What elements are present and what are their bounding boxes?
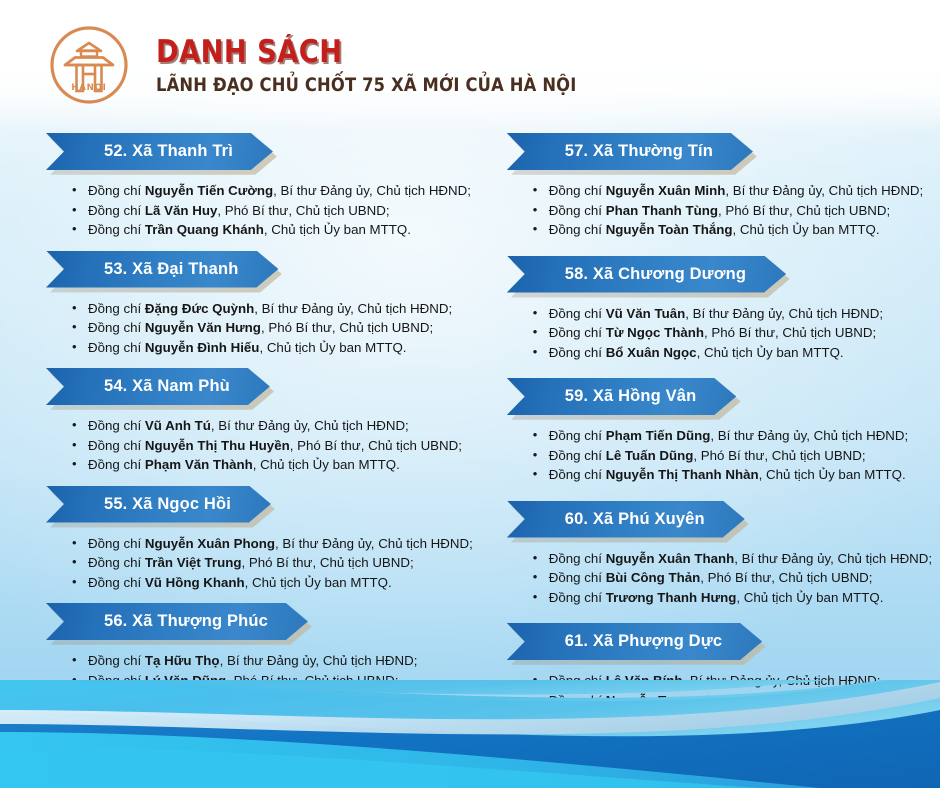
commune-banner[interactable]: 55. Xã Ngọc Hồi xyxy=(46,486,271,523)
official-prefix: Đồng chí xyxy=(88,438,145,453)
commune-section: 57. Xã Thường TínĐồng chí Nguyễn Xuân Mi… xyxy=(507,133,940,240)
official-role: , Phó Bí thư, Chủ tịch UBND; xyxy=(261,320,433,335)
official-role: , Bí thư Đảng ủy, Chủ tịch HĐND; xyxy=(734,551,932,566)
commune-section: 60. Xã Phú XuyênĐồng chí Nguyễn Xuân Tha… xyxy=(507,501,940,608)
commune-banner-label: 59. Xã Hồng Vân xyxy=(565,378,697,415)
svg-text:HANOI: HANOI xyxy=(71,83,106,93)
official-name: Phạm Tiến Dũng xyxy=(606,428,711,443)
official-role: , Bí thư Đảng ủy, Chủ tịch HĐND; xyxy=(254,301,452,316)
official-prefix: Đồng chí xyxy=(88,203,145,218)
commune-banner-wrap: 59. Xã Hồng Vân xyxy=(507,378,940,415)
official-prefix: Đồng chí xyxy=(88,222,145,237)
list-item: Đồng chí Nguyễn Xuân Thanh, Bí thư Đảng … xyxy=(533,549,940,569)
commune-banner[interactable]: 52. Xã Thanh Trì xyxy=(46,133,273,170)
list-item: Đồng chí Nguyễn Đình Hiếu, Chủ tịch Ủy b… xyxy=(72,338,473,358)
list-item: Đồng chí Phạm Văn Thành, Chủ tịch Ủy ban… xyxy=(72,455,473,475)
official-name: Nguyễn Tiến Cường xyxy=(145,183,273,198)
commune-banner-label: 57. Xã Thường Tín xyxy=(565,133,713,170)
commune-banner[interactable]: 58. Xã Chương Dương xyxy=(507,256,786,293)
commune-banner-label: 55. Xã Ngọc Hồi xyxy=(104,486,231,523)
official-role: , Chủ tịch Ủy ban MTTQ. xyxy=(759,467,906,482)
official-name: Nguyễn Đình Hiếu xyxy=(145,340,260,355)
list-item: Đồng chí Trần Việt Trung, Phó Bí thư, Ch… xyxy=(72,553,473,573)
official-prefix: Đồng chí xyxy=(88,653,145,668)
official-role: , Phó Bí thư, Chủ tịch UBND; xyxy=(693,448,865,463)
commune-banner-label: 60. Xã Phú Xuyên xyxy=(565,501,705,538)
page-subtitle: LÃNH ĐẠO CHỦ CHỐT 75 XÃ MỚI CỦA HÀ NỘI xyxy=(156,75,576,96)
commune-banner-wrap: 61. Xã Phượng Dực xyxy=(507,623,940,660)
left-column: 52. Xã Thanh TrìĐồng chí Nguyễn Tiến Cườ… xyxy=(0,133,481,693)
commune-banner-wrap: 54. Xã Nam Phù xyxy=(46,368,473,405)
list-item: Đồng chí Trương Thanh Hưng, Chủ tịch Ủy … xyxy=(533,588,940,608)
official-role: , Phó Bí thư, Chủ tịch UBND; xyxy=(718,203,890,218)
list-item: Đồng chí Vũ Hồng Khanh, Chủ tịch Ủy ban … xyxy=(72,573,473,593)
official-name: Nguyễn Văn Hưng xyxy=(145,320,261,335)
list-item: Đồng chí Nguyễn Thị Thanh Nhàn, Chủ tịch… xyxy=(533,465,940,485)
official-prefix: Đồng chí xyxy=(549,570,606,585)
official-prefix: Đồng chí xyxy=(549,306,606,321)
list-item: Đồng chí Phạm Tiến Dũng, Bí thư Đảng ủy,… xyxy=(533,426,940,446)
commune-banner-label: 53. Xã Đại Thanh xyxy=(104,251,238,288)
commune-banner-label: 52. Xã Thanh Trì xyxy=(104,133,233,170)
list-item: Đồng chí Trần Quang Khánh, Chủ tịch Ủy b… xyxy=(72,220,473,240)
official-role: , Phó Bí thư, Chủ tịch UBND; xyxy=(217,203,389,218)
list-item: Đồng chí Lê Tuấn Dũng, Phó Bí thư, Chủ t… xyxy=(533,446,940,466)
commune-banner-wrap: 55. Xã Ngọc Hồi xyxy=(46,486,473,523)
official-name: Nguyễn Xuân Thanh xyxy=(606,551,735,566)
official-role: , Phó Bí thư, Chủ tịch UBND; xyxy=(704,325,876,340)
commune-banner[interactable]: 61. Xã Phượng Dực xyxy=(507,623,762,660)
commune-banner-wrap: 53. Xã Đại Thanh xyxy=(46,251,473,288)
official-list: Đồng chí Phạm Tiến Dũng, Bí thư Đảng ủy,… xyxy=(507,426,940,485)
official-prefix: Đồng chí xyxy=(549,345,606,360)
official-role: , Chủ tịch Ủy ban MTTQ. xyxy=(733,222,880,237)
official-prefix: Đồng chí xyxy=(549,428,606,443)
commune-banner[interactable]: 53. Xã Đại Thanh xyxy=(46,251,278,288)
official-role: , Bí thư Đảng ủy, Chủ tịch HĐND; xyxy=(273,183,471,198)
commune-section: 54. Xã Nam PhùĐồng chí Vũ Anh Tú, Bí thư… xyxy=(46,368,473,475)
official-prefix: Đồng chí xyxy=(549,448,606,463)
commune-banner[interactable]: 59. Xã Hồng Vân xyxy=(507,378,737,415)
commune-section: 53. Xã Đại ThanhĐồng chí Đặng Đức Quỳnh,… xyxy=(46,251,473,358)
list-item: Đồng chí Nguyễn Tiến Cường, Bí thư Đảng … xyxy=(72,181,473,201)
official-name: Trương Thanh Hưng xyxy=(606,590,737,605)
official-prefix: Đồng chí xyxy=(549,222,606,237)
official-role: , Bí thư Đảng ủy, Chủ tịch HĐND; xyxy=(220,653,418,668)
commune-banner-wrap: 56. Xã Thượng Phúc xyxy=(46,603,473,640)
infographic-poster: HANOI DANH SÁCH LÃNH ĐẠO CHỦ CHỐT 75 XÃ … xyxy=(0,0,940,788)
commune-banner-label: 56. Xã Thượng Phúc xyxy=(104,603,268,640)
official-list: Đồng chí Vũ Văn Tuân, Bí thư Đảng ủy, Ch… xyxy=(507,304,940,363)
commune-banner-label: 61. Xã Phượng Dực xyxy=(565,623,722,660)
list-item: Đồng chí Từ Ngọc Thành, Phó Bí thư, Chủ … xyxy=(533,323,940,343)
official-role: , Bí thư Đảng ủy, Chủ tịch HĐND; xyxy=(710,428,908,443)
list-item: Đồng chí Lã Văn Huy, Phó Bí thư, Chủ tịc… xyxy=(72,201,473,221)
official-role: , Phó Bí thư, Chủ tịch UBND; xyxy=(241,555,413,570)
official-name: Bổ Xuân Ngọc xyxy=(606,345,697,360)
commune-section: 58. Xã Chương DươngĐồng chí Vũ Văn Tuân,… xyxy=(507,256,940,363)
list-item: Đồng chí Phan Thanh Tùng, Phó Bí thư, Ch… xyxy=(533,201,940,221)
official-name: Từ Ngọc Thành xyxy=(606,325,704,340)
official-name: Phạm Văn Thành xyxy=(145,457,253,472)
commune-banner-wrap: 57. Xã Thường Tín xyxy=(507,133,940,170)
commune-section: 59. Xã Hồng VânĐồng chí Phạm Tiến Dũng, … xyxy=(507,378,940,485)
commune-banner-wrap: 58. Xã Chương Dương xyxy=(507,256,940,293)
official-list: Đồng chí Nguyễn Tiến Cường, Bí thư Đảng … xyxy=(46,181,473,240)
official-prefix: Đồng chí xyxy=(549,203,606,218)
commune-banner[interactable]: 57. Xã Thường Tín xyxy=(507,133,753,170)
list-item: Đồng chí Nguyễn Văn Hưng, Phó Bí thư, Ch… xyxy=(72,318,473,338)
list-item: Đồng chí Bổ Xuân Ngọc, Chủ tịch Ủy ban M… xyxy=(533,343,940,363)
official-name: Vũ Văn Tuân xyxy=(606,306,686,321)
official-role: , Chủ tịch Ủy ban MTTQ. xyxy=(245,575,392,590)
official-prefix: Đồng chí xyxy=(88,575,145,590)
official-prefix: Đồng chí xyxy=(88,340,145,355)
official-prefix: Đồng chí xyxy=(549,183,606,198)
official-role: , Bí thư Đảng ủy, Chủ tịch HĐND; xyxy=(725,183,923,198)
list-item: Đồng chí Nguyễn Xuân Phong, Bí thư Đảng … xyxy=(72,534,473,554)
list-item: Đồng chí Nguyễn Xuân Minh, Bí thư Đảng ủ… xyxy=(533,181,940,201)
commune-banner[interactable]: 60. Xã Phú Xuyên xyxy=(507,501,745,538)
official-name: Trần Quang Khánh xyxy=(145,222,264,237)
right-column: 57. Xã Thường TínĐồng chí Nguyễn Xuân Mi… xyxy=(481,133,940,693)
official-name: Bùi Công Thản xyxy=(606,570,701,585)
official-list: Đồng chí Nguyễn Xuân Thanh, Bí thư Đảng … xyxy=(507,549,940,608)
official-role: , Bí thư Đảng ủy, Chủ tịch HĐND; xyxy=(211,418,409,433)
official-name: Lê Tuấn Dũng xyxy=(606,448,694,463)
official-name: Phan Thanh Tùng xyxy=(606,203,718,218)
commune-banner-label: 58. Xã Chương Dương xyxy=(565,256,746,293)
official-list: Đồng chí Nguyễn Xuân Minh, Bí thư Đảng ủ… xyxy=(507,181,940,240)
title-block: DANH SÁCH LÃNH ĐẠO CHỦ CHỐT 75 XÃ MỚI CỦ… xyxy=(156,32,645,96)
official-role: , Chủ tịch Ủy ban MTTQ. xyxy=(736,590,883,605)
list-item: Đồng chí Nguyễn Thị Thu Huyền, Phó Bí th… xyxy=(72,436,473,456)
commune-banner[interactable]: 56. Xã Thượng Phúc xyxy=(46,603,308,640)
official-prefix: Đồng chí xyxy=(88,536,145,551)
commune-banner-label: 54. Xã Nam Phù xyxy=(104,368,230,405)
official-prefix: Đồng chí xyxy=(88,320,145,335)
list-item: Đồng chí Nguyễn Toàn Thắng, Chủ tịch Ủy … xyxy=(533,220,940,240)
commune-section: 52. Xã Thanh TrìĐồng chí Nguyễn Tiến Cườ… xyxy=(46,133,473,240)
hanoi-emblem-logo: HANOI xyxy=(48,24,130,106)
official-prefix: Đồng chí xyxy=(88,301,145,316)
official-prefix: Đồng chí xyxy=(549,551,606,566)
official-name: Đặng Đức Quỳnh xyxy=(145,301,254,316)
official-name: Nguyễn Toàn Thắng xyxy=(606,222,733,237)
official-name: Nguyễn Thị Thanh Nhàn xyxy=(606,467,759,482)
list-item: Đồng chí Vũ Anh Tú, Bí thư Đảng ủy, Chủ … xyxy=(72,416,473,436)
official-prefix: Đồng chí xyxy=(88,457,145,472)
commune-section: 55. Xã Ngọc HồiĐồng chí Nguyễn Xuân Phon… xyxy=(46,486,473,593)
official-role: , Chủ tịch Ủy ban MTTQ. xyxy=(697,345,844,360)
official-prefix: Đồng chí xyxy=(549,467,606,482)
official-role: , Chủ tịch Ủy ban MTTQ. xyxy=(259,340,406,355)
official-prefix: Đồng chí xyxy=(88,183,145,198)
official-name: Trần Việt Trung xyxy=(145,555,242,570)
official-list: Đồng chí Vũ Anh Tú, Bí thư Đảng ủy, Chủ … xyxy=(46,416,473,475)
official-list: Đồng chí Đặng Đức Quỳnh, Bí thư Đảng ủy,… xyxy=(46,299,473,358)
commune-banner-wrap: 60. Xã Phú Xuyên xyxy=(507,501,940,538)
official-role: , Chủ tịch Ủy ban MTTQ. xyxy=(264,222,411,237)
official-role: , Bí thư Đảng ủy, Chủ tịch HĐND; xyxy=(685,306,883,321)
list-item: Đồng chí Tạ Hữu Thọ, Bí thư Đảng ủy, Chủ… xyxy=(72,651,473,671)
official-prefix: Đồng chí xyxy=(88,555,145,570)
official-name: Vũ Hồng Khanh xyxy=(145,575,245,590)
official-name: Nguyễn Xuân Phong xyxy=(145,536,275,551)
official-name: Lã Văn Huy xyxy=(145,203,217,218)
official-prefix: Đồng chí xyxy=(88,418,145,433)
official-role: , Chủ tịch Ủy ban MTTQ. xyxy=(253,457,400,472)
poster-header: HANOI DANH SÁCH LÃNH ĐẠO CHỦ CHỐT 75 XÃ … xyxy=(0,0,940,128)
official-role: , Phó Bí thư, Chủ tịch UBND; xyxy=(700,570,872,585)
official-prefix: Đồng chí xyxy=(549,325,606,340)
official-list: Đồng chí Nguyễn Xuân Phong, Bí thư Đảng … xyxy=(46,534,473,593)
page-title: DANH SÁCH xyxy=(156,36,586,69)
list-item: Đồng chí Bùi Công Thản, Phó Bí thư, Chủ … xyxy=(533,568,940,588)
official-name: Nguyễn Xuân Minh xyxy=(606,183,726,198)
commune-banner-wrap: 52. Xã Thanh Trì xyxy=(46,133,473,170)
commune-banner[interactable]: 54. Xã Nam Phù xyxy=(46,368,270,405)
official-name: Nguyễn Thị Thu Huyền xyxy=(145,438,290,453)
sections-container: 52. Xã Thanh TrìĐồng chí Nguyễn Tiến Cườ… xyxy=(0,133,940,693)
official-prefix: Đồng chí xyxy=(549,590,606,605)
bottom-wave-decoration xyxy=(0,680,940,788)
official-name: Vũ Anh Tú xyxy=(145,418,211,433)
official-role: , Bí thư Đảng ủy, Chủ tịch HĐND; xyxy=(275,536,473,551)
list-item: Đồng chí Đặng Đức Quỳnh, Bí thư Đảng ủy,… xyxy=(72,299,473,319)
official-role: , Phó Bí thư, Chủ tịch UBND; xyxy=(290,438,462,453)
official-name: Tạ Hữu Thọ xyxy=(145,653,220,668)
list-item: Đồng chí Vũ Văn Tuân, Bí thư Đảng ủy, Ch… xyxy=(533,304,940,324)
